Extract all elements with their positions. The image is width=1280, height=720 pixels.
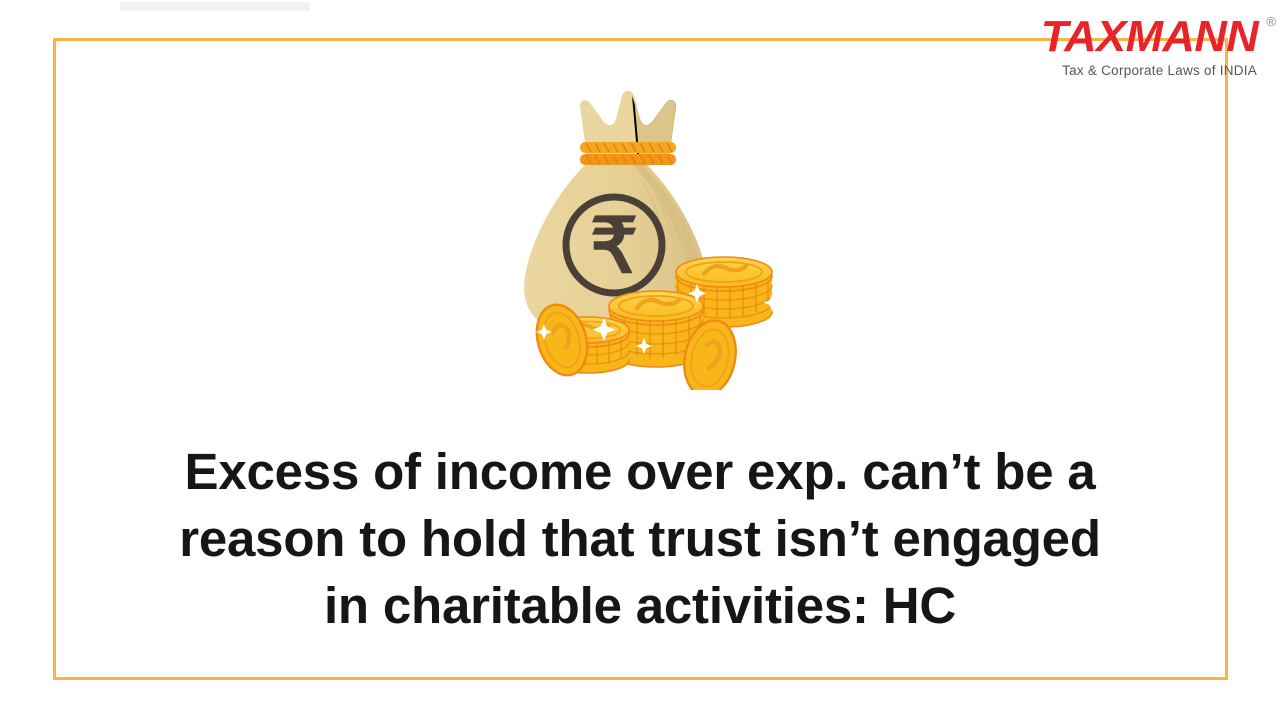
- taxmann-wordmark: TAXMANN ®: [1041, 14, 1258, 60]
- headline-line-1: Excess of income over exp. can’t be a: [90, 438, 1190, 505]
- money-bag-illustration: ₹: [492, 80, 802, 390]
- news-card-canvas: TAXMANN ® Tax & Corporate Laws of INDIA: [0, 0, 1280, 720]
- headline: Excess of income over exp. can’t be a re…: [90, 438, 1190, 639]
- registered-trademark-icon: ®: [1266, 15, 1275, 28]
- headline-line-3: in charitable activities: HC: [90, 572, 1190, 639]
- headline-line-2: reason to hold that trust isn’t engaged: [90, 505, 1190, 572]
- taxmann-logo[interactable]: TAXMANN ® Tax & Corporate Laws of INDIA: [998, 14, 1258, 78]
- svg-text:₹: ₹: [590, 204, 638, 289]
- bag-neck-shade2: [634, 96, 676, 164]
- taxmann-wordmark-text: TAXMANN: [1041, 12, 1258, 61]
- scan-artifact: [120, 2, 310, 11]
- taxmann-tagline: Tax & Corporate Laws of INDIA: [998, 63, 1257, 78]
